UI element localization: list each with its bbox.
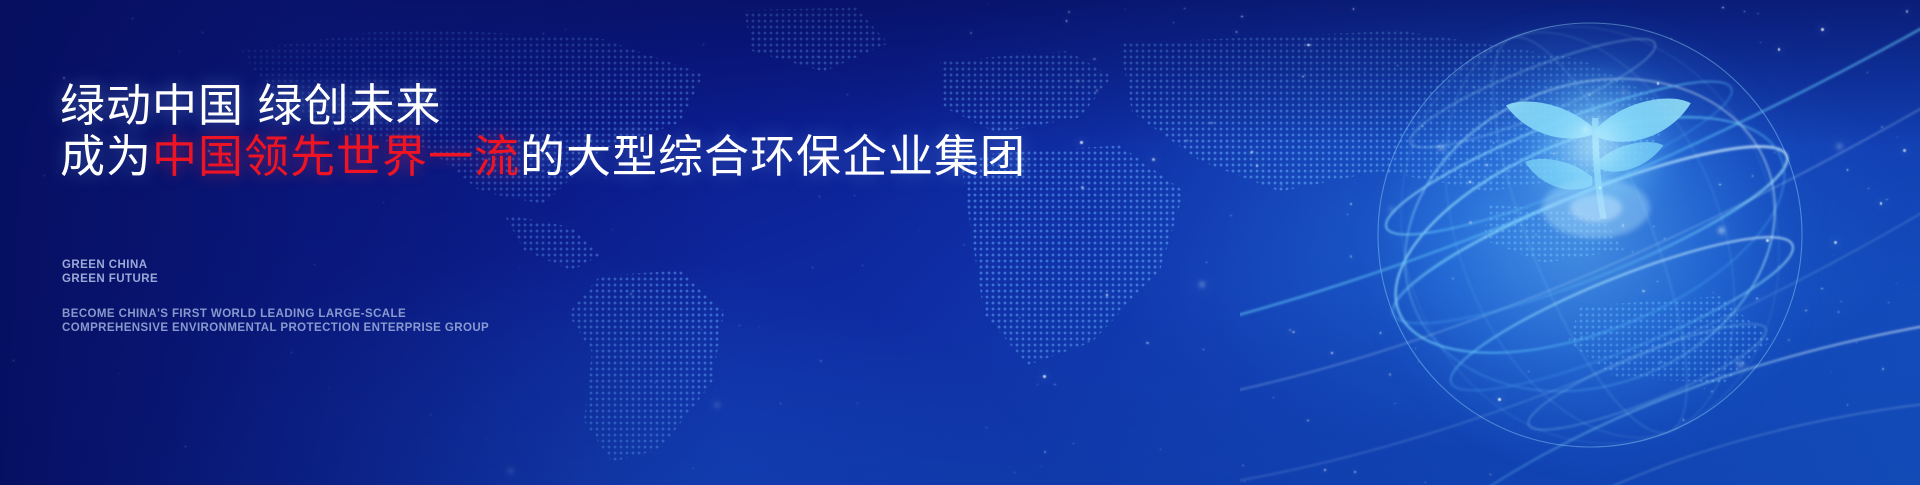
headline-suffix: 的大型综合环保企业集团: [520, 131, 1026, 182]
sprout-leaf-icon: [1506, 99, 1691, 219]
hero-banner: 绿动中国 绿创未来 成为中国领先世界一流的大型综合环保企业集团 GREEN CH…: [0, 0, 1920, 485]
slogan-english: GREEN CHINA GREEN FUTURE: [62, 259, 158, 286]
banner-copy: 绿动中国 绿创未来 成为中国领先世界一流的大型综合环保企业集团 GREEN CH…: [60, 0, 1120, 485]
headline-prefix: 成为: [60, 131, 152, 182]
headline-highlight: 中国领先世界一流: [152, 131, 520, 182]
globe-graphic: [1240, 0, 1920, 485]
headline-line-1: 绿动中国 绿创未来: [60, 83, 442, 128]
globe-core-glow: [1495, 65, 1695, 225]
tagline-english: BECOME CHINA'S FIRST WORLD LEADING LARGE…: [62, 308, 489, 335]
globe-glow: [1360, 10, 1820, 470]
headline-line-2: 成为中国领先世界一流的大型综合环保企业集团: [60, 134, 1026, 179]
globe-wireframe-icon: [1240, 0, 1920, 485]
